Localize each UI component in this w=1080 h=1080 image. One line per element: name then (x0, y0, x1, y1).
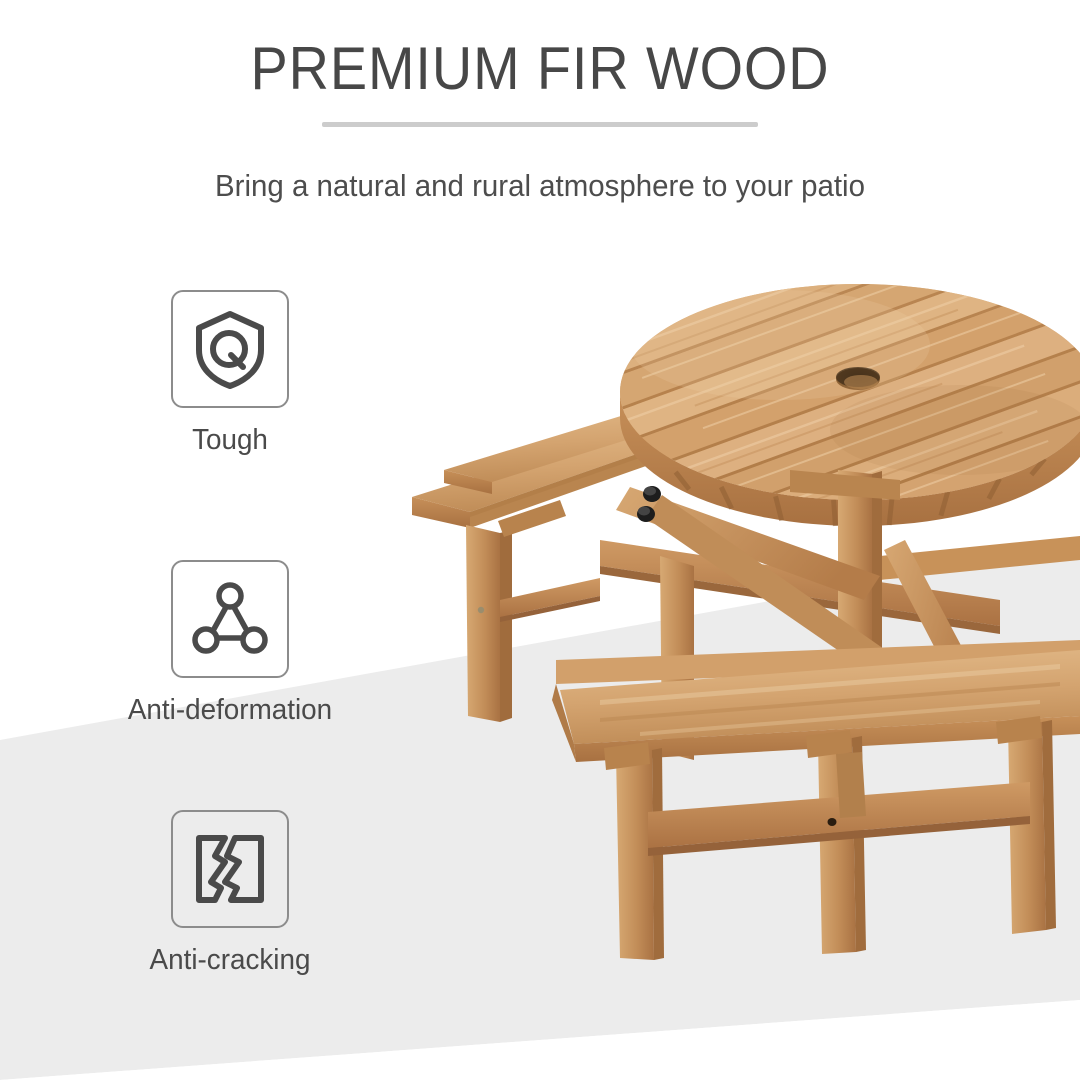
feature-label: Anti-cracking (9, 944, 451, 977)
feature-label: Anti-deformation (9, 694, 451, 727)
page-subtitle: Bring a natural and rural atmosphere to … (27, 168, 1053, 204)
title-divider (322, 122, 758, 127)
feature-icon-box (171, 290, 289, 408)
bench-leg (1008, 722, 1046, 934)
triangle-nodes-icon (187, 576, 273, 662)
front-bench (552, 640, 1080, 960)
shield-quality-icon (187, 306, 273, 392)
feature-item-anti-cracking: Anti-cracking (0, 810, 460, 977)
cracked-board-icon (187, 826, 273, 912)
page-title: PREMIUM FIR WOOD (38, 34, 1042, 103)
feature-icon-box (171, 810, 289, 928)
feature-icon-box (171, 560, 289, 678)
feature-item-anti-deformation: Anti-deformation (0, 560, 460, 727)
feature-item-tough: Tough (0, 290, 460, 457)
product-feature-banner: PREMIUM FIR WOOD Bring a natural and rur… (0, 0, 1080, 1080)
feature-label: Tough (9, 424, 451, 457)
